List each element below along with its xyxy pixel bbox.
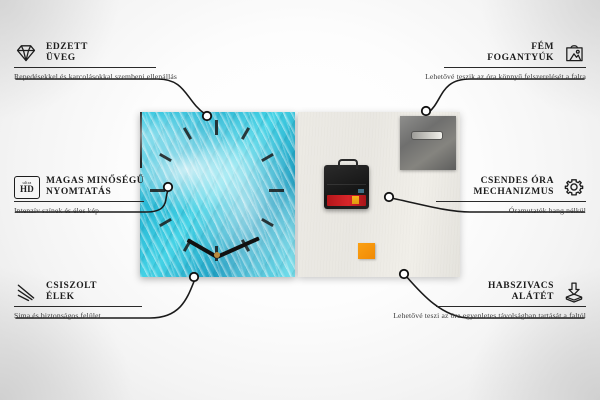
callout-silent-mechanism: CSENDES ÓRA MECHANIZMUS Óramutatók hang … [386, 176, 586, 216]
callout-title: HABSZIVACS ALÁTÉT [488, 281, 554, 303]
callout-header: CSISZOLT ÉLEK [14, 281, 214, 303]
callout-divider [14, 67, 156, 68]
callout-subtitle: Intenzív színek és éles kép [14, 206, 214, 216]
callout-divider [14, 201, 144, 202]
callout-title: FÉM FOGANTYÚK [487, 42, 554, 64]
callout-tempered-glass: EDZETT ÜVEG Repedésekkel és karcolásokka… [14, 42, 214, 82]
foam-pad-arrow-icon [562, 281, 586, 303]
connector-handles [428, 79, 584, 113]
callout-header: ultra HD MAGAS MINŐSÉGŰ NYOMTATÁS [14, 176, 214, 198]
callout-header: CSENDES ÓRA MECHANIZMUS [386, 176, 586, 198]
mechanism-sticker [327, 195, 366, 206]
polished-edges-icon [14, 281, 38, 303]
callout-title: CSENDES ÓRA MECHANIZMUS [474, 176, 554, 198]
callout-metal-handles: FÉM FOGANTYÚK Lehetővé teszik az óra kön… [386, 42, 586, 82]
callout-subtitle: Lehetővé teszi az óra egyenletes távolsá… [386, 311, 586, 321]
clock-tick [269, 189, 284, 192]
metal-hanger-plate [400, 116, 456, 170]
callout-divider [14, 306, 142, 307]
mechanism-hook [338, 159, 358, 169]
ultra-hd-badge-icon: ultra HD [14, 176, 38, 198]
infographic-canvas: EDZETT ÜVEG Repedésekkel és karcolásokka… [0, 0, 600, 400]
callout-divider [436, 201, 586, 202]
clock-center-cap [214, 252, 220, 258]
callout-subtitle: Sima és biztonságos felület [14, 311, 214, 321]
callout-title: CSISZOLT ÉLEK [46, 281, 97, 303]
callout-header: EDZETT ÜVEG [14, 42, 214, 64]
hanger-slot [411, 131, 443, 140]
diamond-icon [14, 42, 38, 64]
callout-subtitle: Repedésekkel és karcolásokkal szembeni e… [14, 72, 214, 82]
callout-title: MAGAS MINŐSÉGŰ NYOMTATÁS [46, 176, 144, 198]
callout-divider [436, 306, 586, 307]
callout-subtitle: Lehetővé teszik az óra könnyű felszerelé… [386, 72, 586, 82]
foam-spacer-pad [358, 243, 375, 259]
clock-tick [215, 120, 218, 135]
callout-subtitle: Óramutatók hang nélkül [386, 206, 586, 216]
mechanism-seam [327, 184, 366, 185]
mechanism-chip [358, 189, 364, 193]
callout-header: FÉM FOGANTYÚK [386, 42, 586, 64]
callout-polished-edges: CSISZOLT ÉLEK Sima és biztonságos felüle… [14, 281, 214, 321]
picture-hanger-icon [562, 42, 586, 64]
callout-foam-pad: HABSZIVACS ALÁTÉT Lehetővé teszi az óra … [386, 281, 586, 321]
callout-high-quality-print: ultra HD MAGAS MINŐSÉGŰ NYOMTATÁS Intenz… [14, 176, 214, 216]
clock-mechanism [324, 165, 369, 209]
callout-divider [444, 67, 586, 68]
connector-glass [16, 79, 205, 114]
callout-header: HABSZIVACS ALÁTÉT [386, 281, 586, 303]
gear-icon [562, 176, 586, 198]
callout-title: EDZETT ÜVEG [46, 42, 88, 64]
